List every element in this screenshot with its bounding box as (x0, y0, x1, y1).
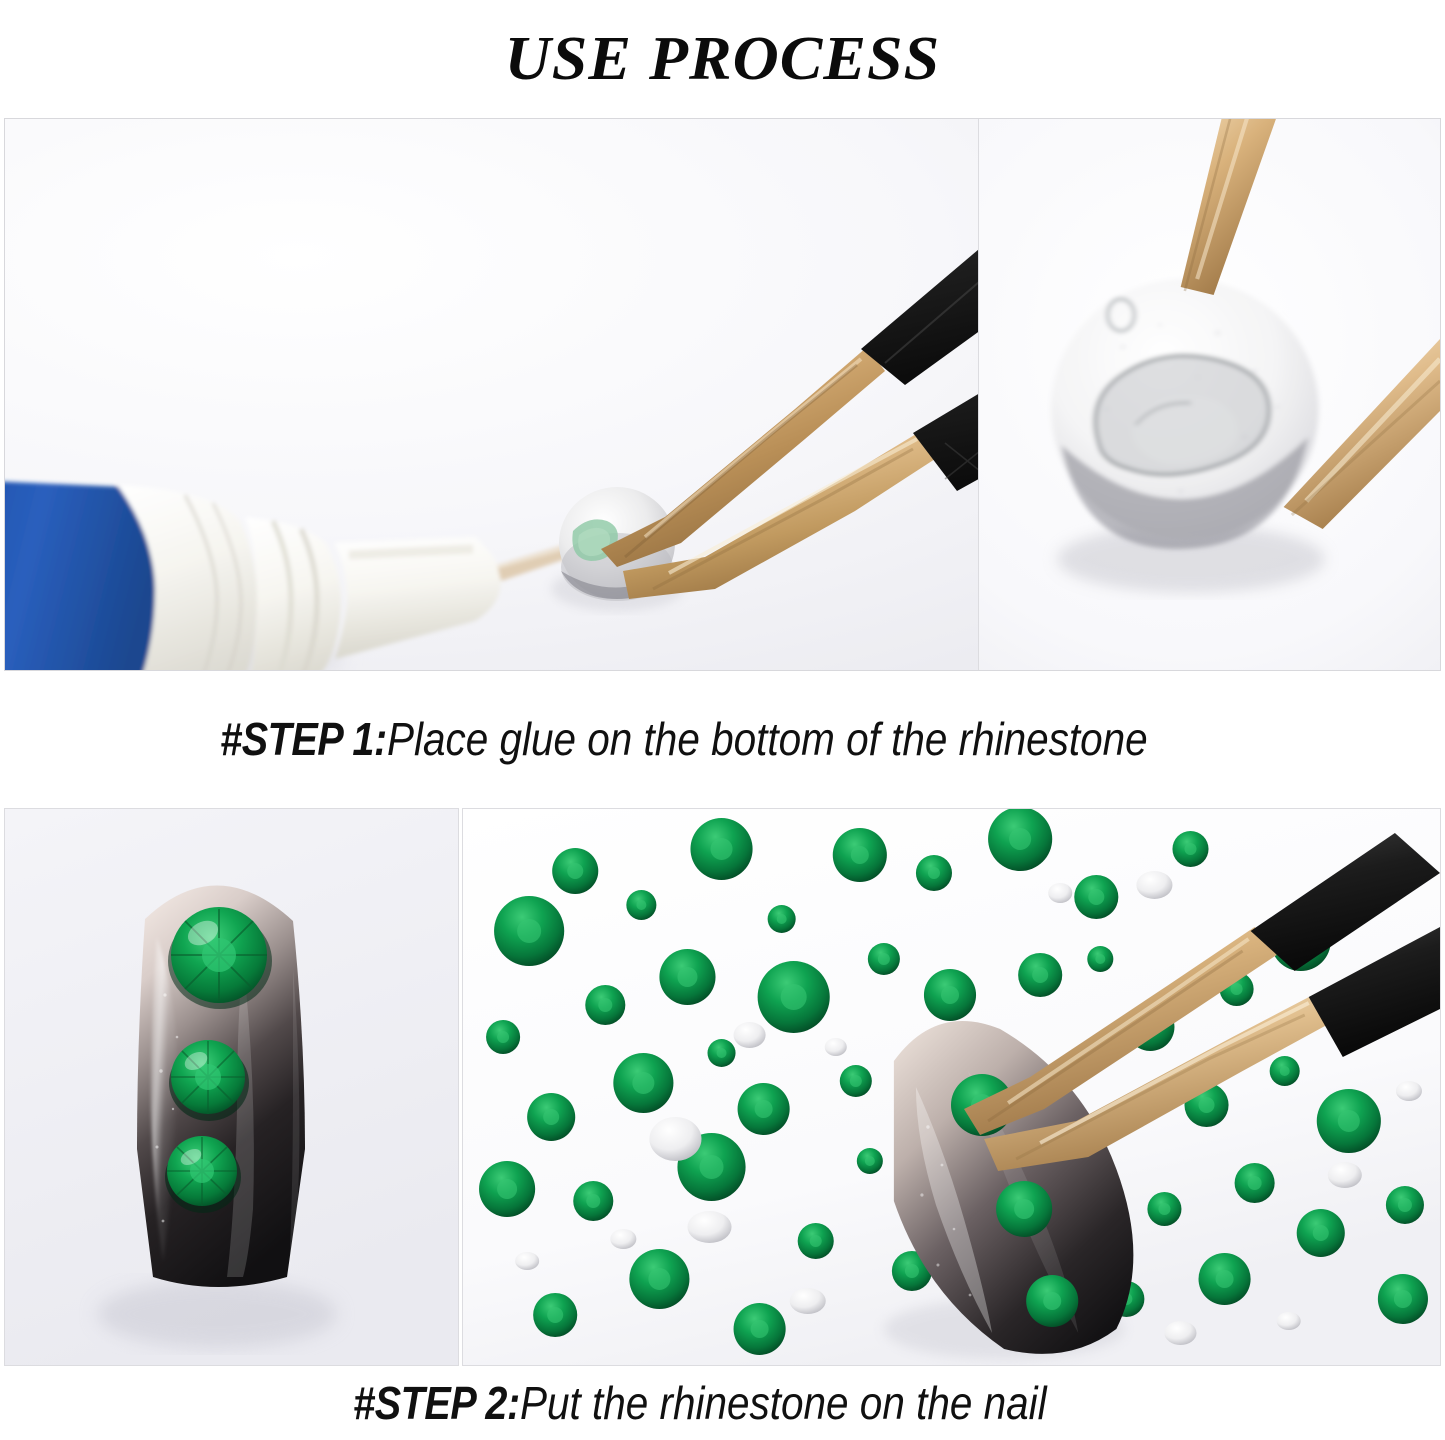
step-2-description: Put the rhinestone on the nail (520, 1366, 1047, 1440)
glue-application-illustration (5, 119, 978, 670)
rhinestone-foil-back (1051, 279, 1319, 549)
rhinestone-backside-illustration (979, 119, 1440, 670)
step-2-image-row (4, 808, 1441, 1366)
tweezer-tip-upper (1181, 119, 1280, 295)
rhinestone-placement-photo (462, 808, 1441, 1366)
step-1-label: #STEP 1: (221, 671, 388, 808)
rhinestone-placement-illustration (463, 809, 1440, 1365)
step-2-label: #STEP 2: (354, 1366, 521, 1440)
bottle-neck (245, 517, 341, 670)
rhinestone-backside-closeup-photo (979, 119, 1440, 670)
step-1-description: Place glue on the bottom of the rhinesto… (387, 671, 1148, 808)
finished-nail-illustration (5, 809, 458, 1365)
step-1-caption: #STEP 1: Place glue on the bottom of the… (0, 671, 1445, 808)
step-1-image-row (4, 118, 1441, 671)
glue-bottle (5, 479, 577, 670)
glue-application-photo (5, 119, 979, 670)
step-2-caption: #STEP 2: Put the rhinestone on the nail (0, 1366, 1445, 1430)
tweezers (601, 227, 978, 599)
page-header: USE PROCESS (0, 0, 1445, 118)
page-title: USE PROCESS (505, 28, 940, 90)
finished-nail-photo (4, 808, 459, 1366)
